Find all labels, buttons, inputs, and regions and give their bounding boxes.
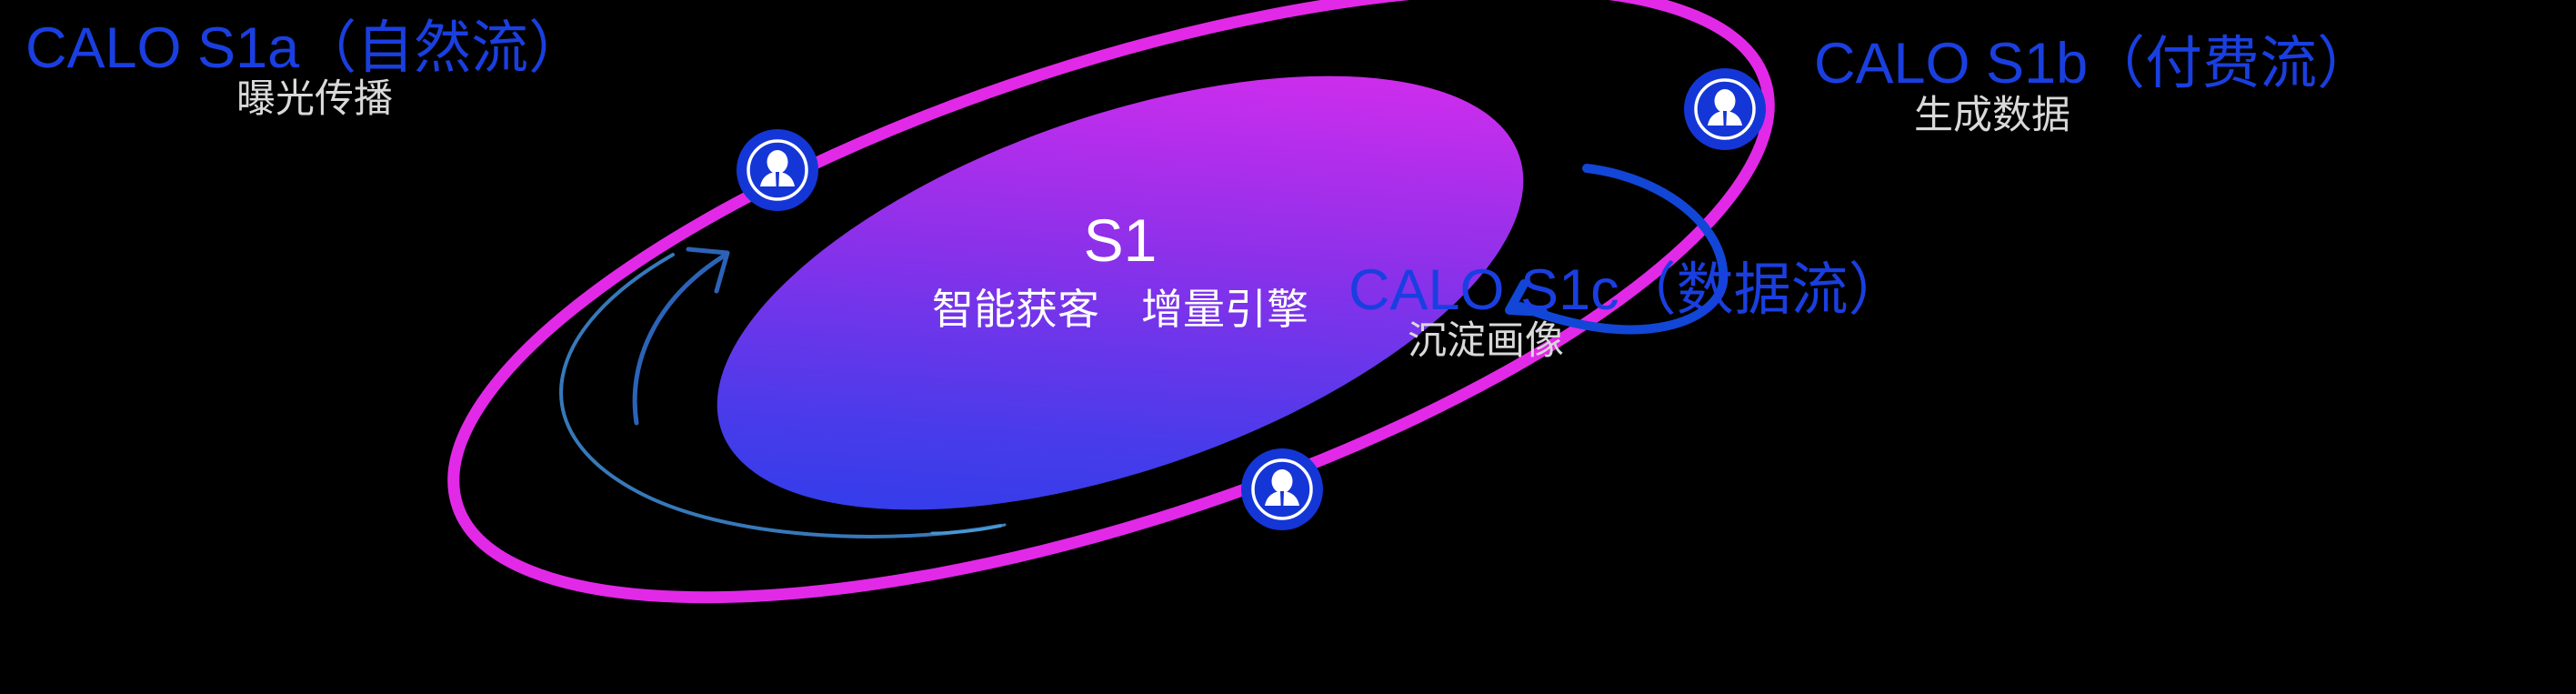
label-s1c-subtitle: 沉淀画像 [1408,320,1564,363]
diagram-canvas: S1 智能获客 增量引擎 CALO S1a（自然流） 曝光传播 CALO S1b… [0,0,2576,694]
node-s1a[interactable] [737,129,818,211]
node-s1c[interactable] [1241,448,1323,530]
label-s1c-title: CALO S1c（数据流） [1348,259,1906,322]
node-s1b[interactable] [1684,68,1766,150]
label-s1a-title: CALO S1a（自然流） [25,17,586,80]
core-subtitle: 智能获客 增量引擎 [932,286,1308,333]
label-s1a-subtitle: 曝光传播 [236,78,393,121]
label-s1b-subtitle: 生成数据 [1914,95,2070,137]
label-s1b-title: CALO S1b（付费流） [1814,33,2374,96]
core-title: S1 [1084,206,1158,274]
arrow-inbound-left [635,249,727,423]
